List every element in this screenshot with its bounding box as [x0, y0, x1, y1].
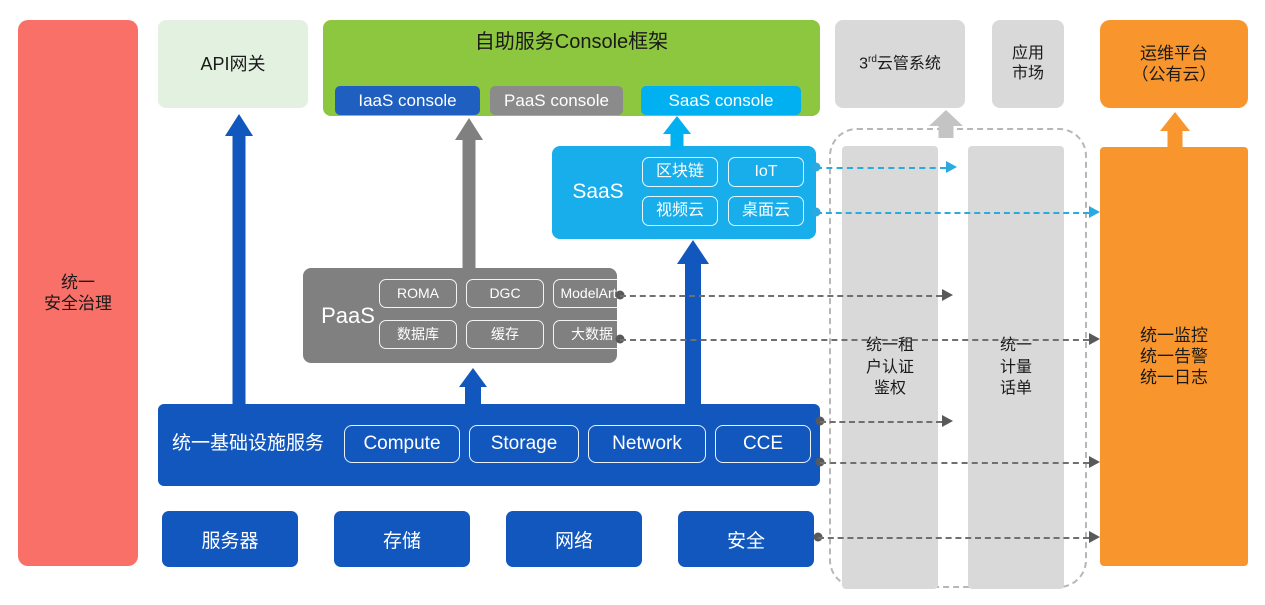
- third-party-cloud-label: 3rd云管系统: [859, 54, 941, 74]
- iaas-service-network[interactable]: Network: [588, 425, 706, 463]
- iaas-service-storage[interactable]: Storage: [469, 425, 579, 463]
- api-gateway-box: API网关: [158, 20, 308, 108]
- arrow-into-ops-platform: [1157, 112, 1193, 148]
- arrowhead-paas-to-monitoring: [1089, 333, 1100, 345]
- arrow-iaas-to-paas: [456, 368, 490, 406]
- saas-service-blockchain[interactable]: 区块链: [642, 157, 718, 187]
- dashed-paas-to-monitoring: [620, 339, 1089, 341]
- saas-service-video-cloud[interactable]: 视频云: [642, 196, 718, 226]
- arrowhead-saas-to-metering: [946, 161, 957, 173]
- console-framework-title: 自助服务Console框架: [323, 30, 820, 55]
- resource-box-storage[interactable]: 存储: [334, 511, 470, 567]
- arrowhead-iaas-to-monitoring: [1089, 456, 1100, 468]
- iaas-service-cce[interactable]: CCE: [715, 425, 811, 463]
- dashed-saas-to-metering: [816, 167, 946, 169]
- saas-layer-panel: SaaS 区块链 IoT 视频云 桌面云: [552, 146, 816, 239]
- dashed-iaas-to-tenant-auth: [820, 421, 942, 423]
- arrow-saas-to-saas-console: [660, 116, 694, 148]
- arrowhead-iaas-to-tenant-auth: [942, 415, 953, 427]
- paas-layer-panel: PaaS ROMA DGC ModelArts 数据库 缓存 大数据: [303, 268, 617, 363]
- arrow-paas-to-paas-console: [452, 118, 486, 268]
- saas-layer-label: SaaS: [562, 179, 634, 205]
- arrowhead-saas-to-monitoring: [1089, 206, 1100, 218]
- resource-box-server[interactable]: 服务器: [162, 511, 298, 567]
- iaas-service-compute[interactable]: Compute: [344, 425, 460, 463]
- arrow-iaas-to-api-gateway: [222, 114, 256, 404]
- paas-service-cache[interactable]: 缓存: [466, 320, 544, 349]
- dashed-iaas-to-monitoring: [820, 462, 1089, 464]
- arrow-iaas-to-saas: [674, 240, 712, 406]
- security-governance-pillar: 统一 安全治理: [18, 20, 138, 566]
- saas-service-iot[interactable]: IoT: [728, 157, 804, 187]
- resource-box-security[interactable]: 安全: [678, 511, 814, 567]
- saas-service-desktop-cloud[interactable]: 桌面云: [728, 196, 804, 226]
- console-framework-panel: 自助服务Console框架 IaaS console PaaS console …: [323, 20, 820, 116]
- paas-service-roma[interactable]: ROMA: [379, 279, 457, 308]
- resource-box-network[interactable]: 网络: [506, 511, 642, 567]
- paas-layer-label: PaaS: [311, 302, 385, 330]
- ops-platform-box: 运维平台 （公有云）: [1100, 20, 1248, 108]
- monitoring-alarm-log-box: 统一监控 统一告警 统一日志: [1100, 147, 1248, 566]
- arrow-into-third-party-cloud: [928, 110, 964, 138]
- paas-console-chip[interactable]: PaaS console: [490, 86, 623, 115]
- arrowhead-paas-to-tenant-auth: [942, 289, 953, 301]
- dashed-saas-to-monitoring: [816, 212, 1089, 214]
- unified-infrastructure-title: 统一基础设施服务: [172, 432, 324, 456]
- paas-service-database[interactable]: 数据库: [379, 320, 457, 349]
- saas-console-chip[interactable]: SaaS console: [641, 86, 801, 115]
- arrowhead-resources-to-monitoring: [1089, 531, 1100, 543]
- app-market-box: 应用 市场: [992, 20, 1064, 108]
- unified-infrastructure-bar: 统一基础设施服务 Compute Storage Network CCE: [158, 404, 820, 486]
- paas-service-dgc[interactable]: DGC: [466, 279, 544, 308]
- iaas-console-chip[interactable]: IaaS console: [335, 86, 480, 115]
- dashed-resources-to-monitoring: [818, 537, 1089, 539]
- third-party-cloud-mgmt-box: 3rd云管系统: [835, 20, 965, 108]
- dashed-paas-to-tenant-auth: [620, 295, 942, 297]
- architecture-diagram-canvas: 统一 安全治理 API网关 自助服务Console框架 IaaS console…: [0, 0, 1265, 605]
